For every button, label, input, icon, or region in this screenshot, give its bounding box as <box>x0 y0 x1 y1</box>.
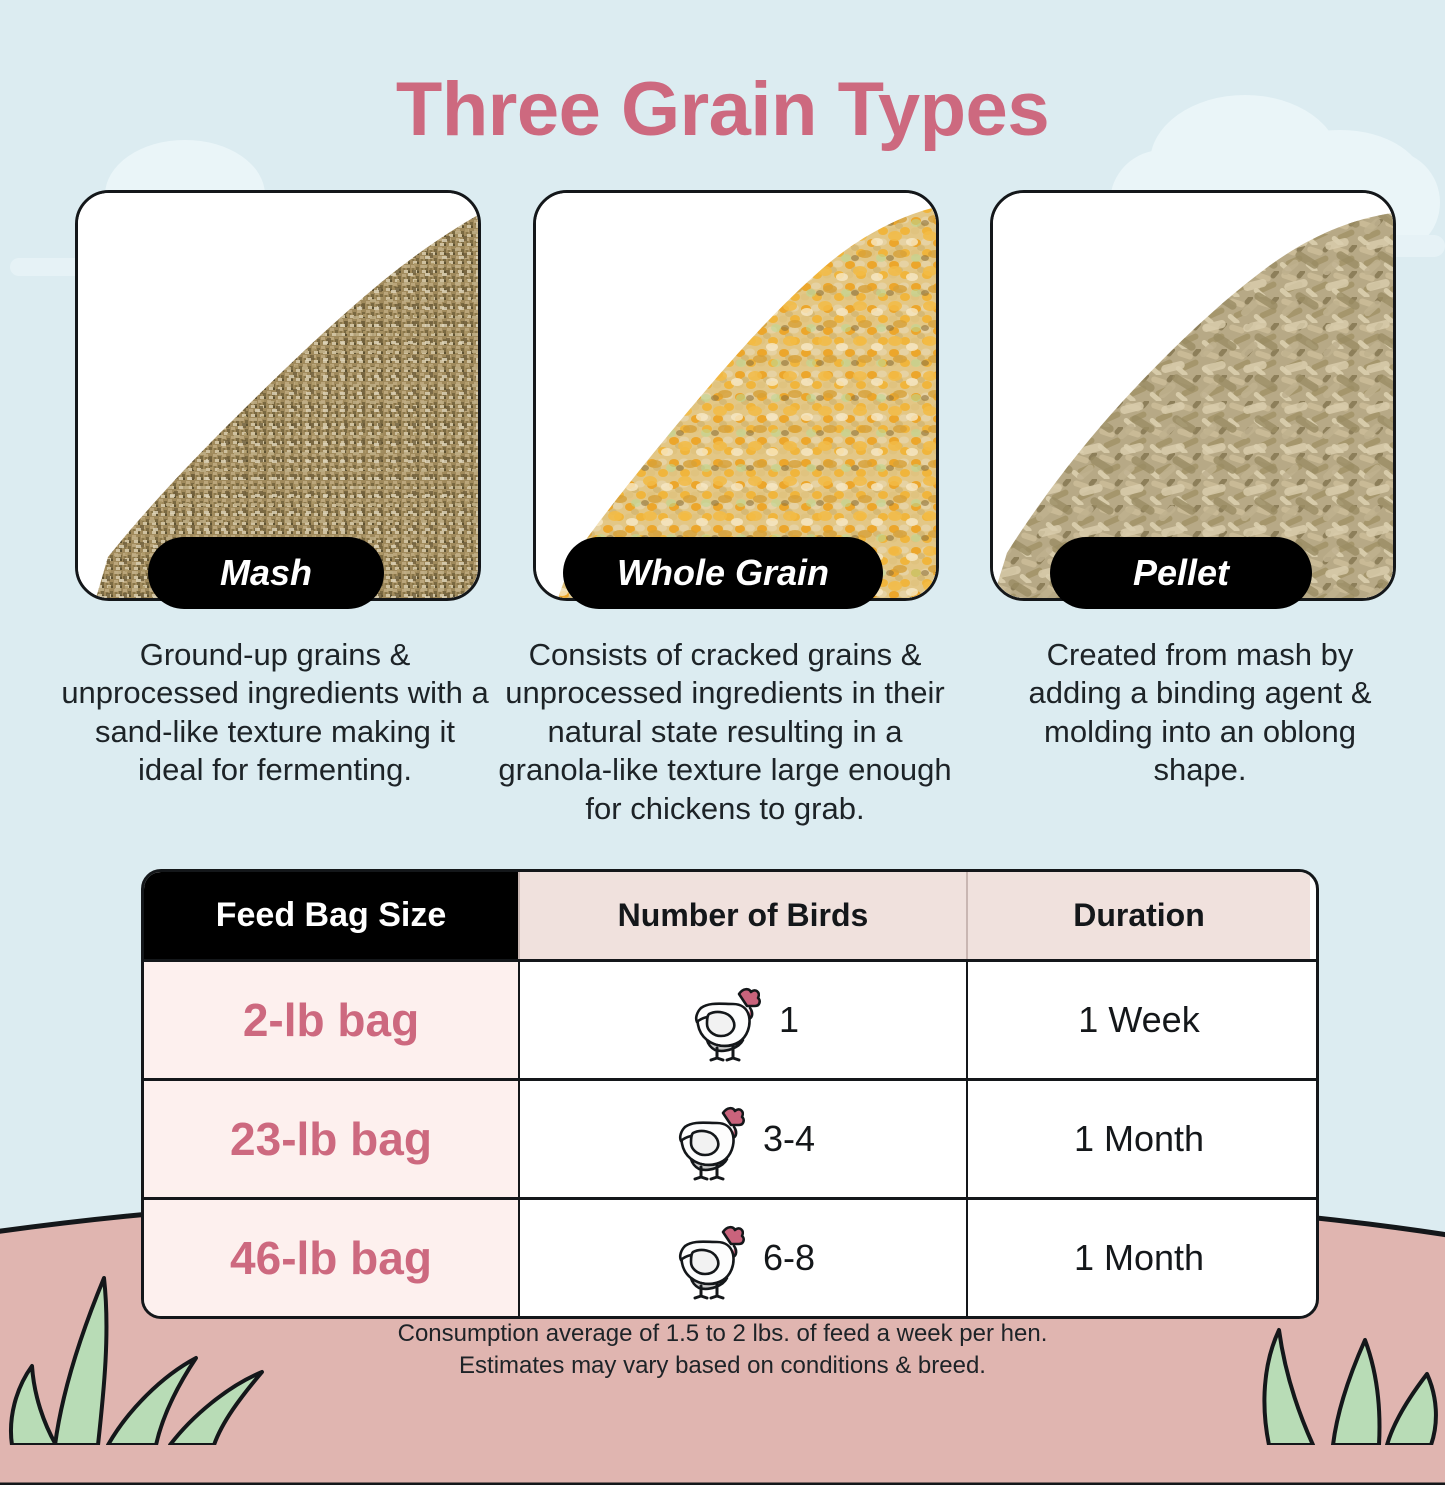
cell-duration: 1 Month <box>966 1081 1310 1197</box>
grain-label-pellet: Pellet <box>1050 537 1312 609</box>
infographic-canvas: Three Grain Types <box>0 0 1445 1445</box>
header-duration: Duration <box>966 872 1310 959</box>
cell-duration: 1 Week <box>966 962 1310 1078</box>
cell-bag-size: 2-lb bag <box>144 962 518 1078</box>
grain-label-whole-grain: Whole Grain <box>563 537 883 609</box>
table-row: 23-lb bag <box>144 1078 1316 1197</box>
cell-bag-size: 46-lb bag <box>144 1200 518 1316</box>
footer-line-1: Consumption average of 1.5 to 2 lbs. of … <box>0 1318 1445 1350</box>
chicken-icon <box>671 1216 749 1300</box>
bird-count-value: 6-8 <box>763 1237 815 1279</box>
chicken-icon <box>687 978 765 1062</box>
header-feed-bag-size: Feed Bag Size <box>144 872 518 959</box>
grain-description-whole-grain: Consists of cracked grains & unprocessed… <box>490 636 960 828</box>
bird-count-value: 3-4 <box>763 1118 815 1160</box>
grain-description-pellet: Created from mash by adding a binding ag… <box>1000 636 1400 790</box>
feed-bag-table: Feed Bag Size Number of Birds Duration 2… <box>141 869 1319 1319</box>
footer-line-2: Estimates may vary based on conditions &… <box>0 1350 1445 1382</box>
header-number-of-birds: Number of Birds <box>518 872 966 959</box>
footer-note: Consumption average of 1.5 to 2 lbs. of … <box>0 1318 1445 1383</box>
table-row: 46-lb bag <box>144 1197 1316 1316</box>
table-header-row: Feed Bag Size Number of Birds Duration <box>144 872 1316 959</box>
table-row: 2-lb bag <box>144 959 1316 1078</box>
page-title: Three Grain Types <box>0 72 1445 148</box>
cell-bag-size: 23-lb bag <box>144 1081 518 1197</box>
bird-count-value: 1 <box>779 999 799 1041</box>
cell-number-of-birds: 6-8 <box>518 1200 966 1316</box>
grain-label-mash: Mash <box>148 537 384 609</box>
chicken-icon <box>671 1097 749 1181</box>
grain-description-mash: Ground-up grains & unprocessed ingredien… <box>60 636 490 790</box>
cell-duration: 1 Month <box>966 1200 1310 1316</box>
cell-number-of-birds: 3-4 <box>518 1081 966 1197</box>
cell-number-of-birds: 1 <box>518 962 966 1078</box>
